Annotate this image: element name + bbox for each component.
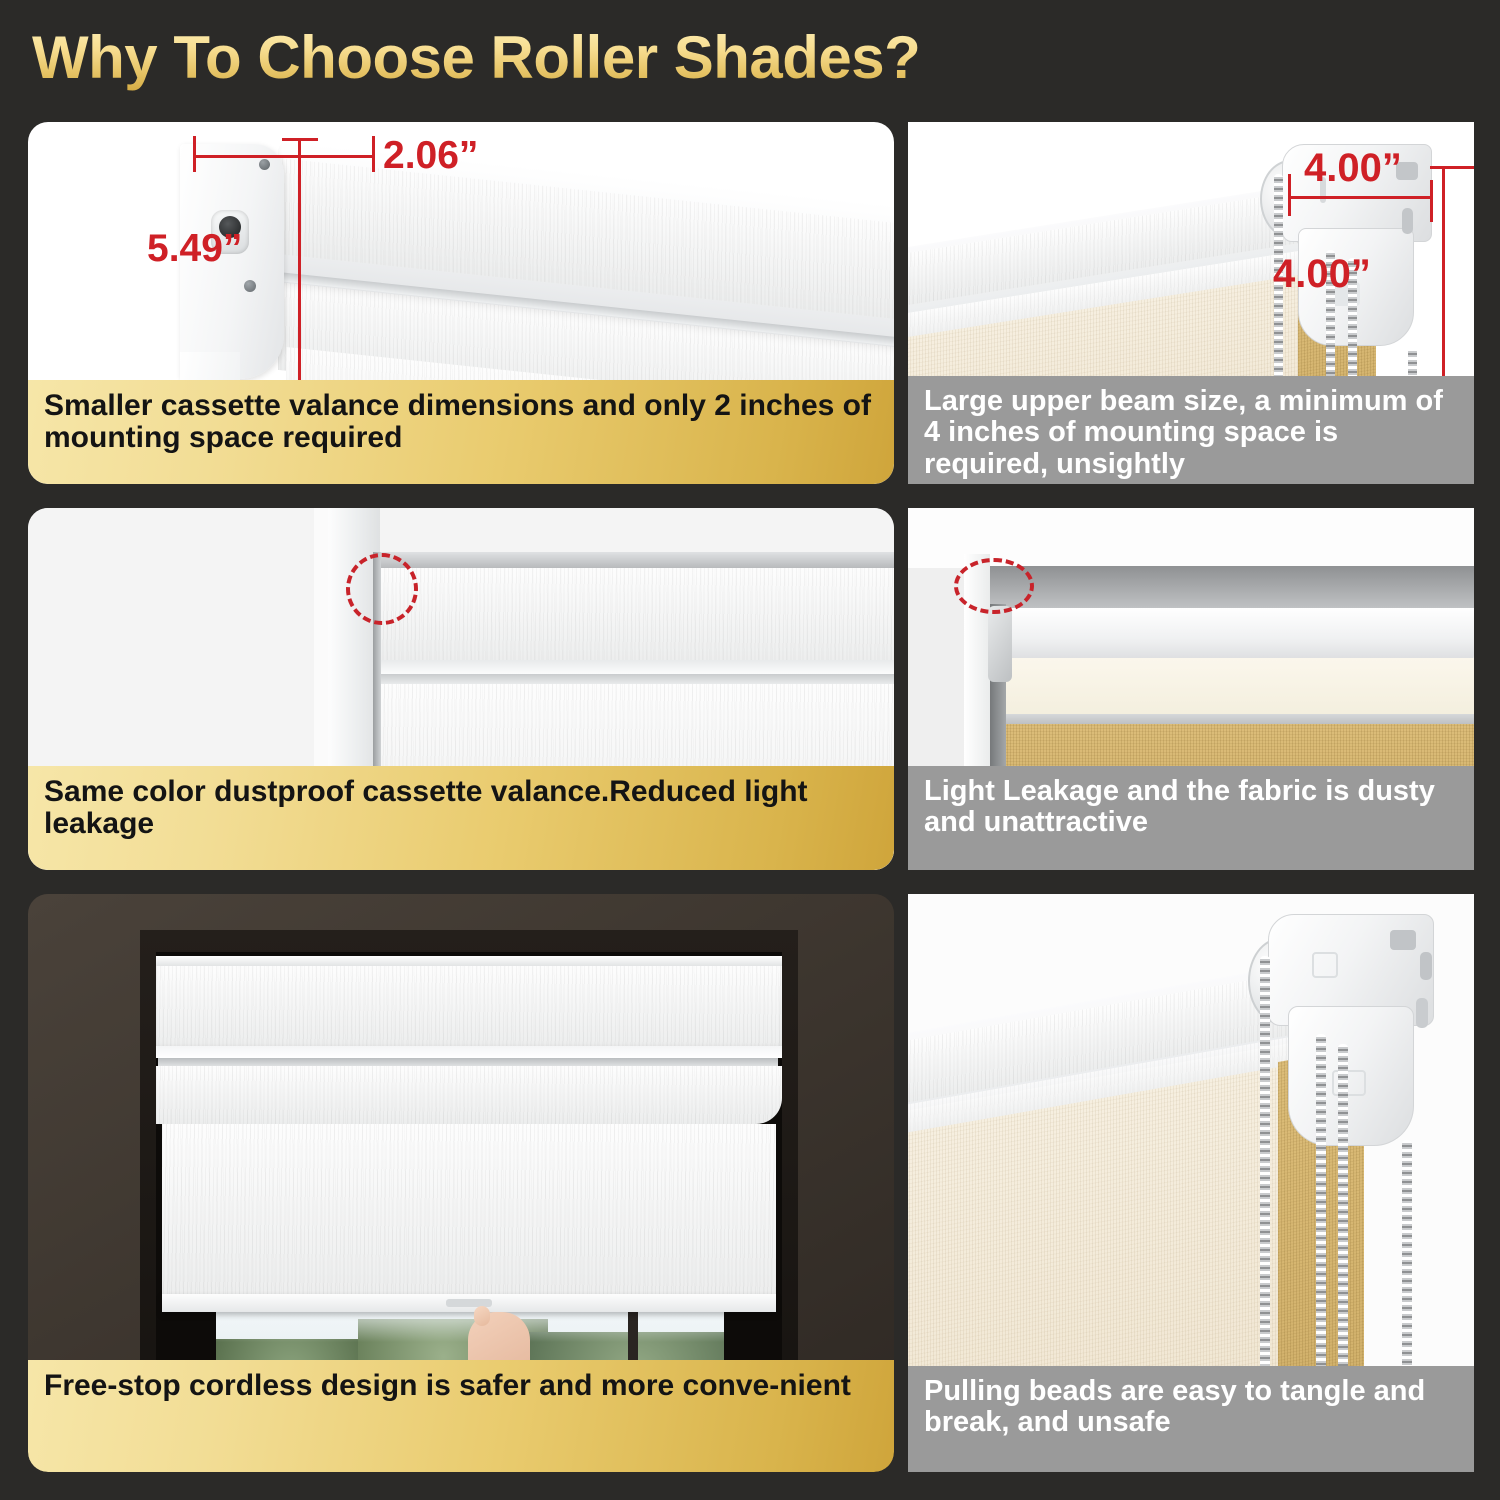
beam-height-tick-top bbox=[1430, 166, 1474, 169]
panel-caption-large-upper-beam: Large upper beam size, a minimum of 4 in… bbox=[908, 376, 1474, 484]
width-dimension-tick-left bbox=[193, 136, 196, 172]
gap-highlight-circle bbox=[954, 558, 1034, 614]
width-dimension-tick-right bbox=[372, 136, 375, 172]
panel-caption-same-color-dustproof-valance: Same color dustproof cassette valance.Re… bbox=[28, 766, 894, 870]
panel-smaller-cassette-valance: 2.06” 5.49” Smaller cassette valance dim… bbox=[28, 122, 894, 484]
panel-large-upper-beam: 4.00” 4.00” Large upper beam size, a min… bbox=[908, 122, 1474, 484]
beam-width-tick-left bbox=[1288, 174, 1291, 216]
width-dimension-label: 2.06” bbox=[383, 134, 478, 178]
panel-pulling-beads-tangle: Pulling beads are easy to tangle and bre… bbox=[908, 894, 1474, 1472]
panel-light-leakage-dusty-fabric: Large gap Light Leakage and the fabric i… bbox=[908, 508, 1474, 870]
page-title: Why To Choose Roller Shades? bbox=[32, 22, 1132, 94]
panel-caption-pulling-beads-tangle: Pulling beads are easy to tangle and bre… bbox=[908, 1366, 1474, 1472]
beam-width-tick-right bbox=[1430, 180, 1433, 222]
beam-height-dimension-label: 4.00” bbox=[1273, 252, 1371, 297]
panel-caption-light-leakage-dusty-fabric: Light Leakage and the fabric is dusty an… bbox=[908, 766, 1474, 870]
width-dimension-line bbox=[193, 155, 375, 158]
panel-same-color-dustproof-valance: smaller gap Same color dustproof cassett… bbox=[28, 508, 894, 870]
panel-caption-smaller-cassette-valance: Smaller cassette valance dimensions and … bbox=[28, 380, 894, 484]
height-dimension-tick-top bbox=[282, 138, 318, 141]
valance-face bbox=[156, 966, 782, 1050]
gap-highlight-circle bbox=[346, 553, 418, 625]
panel-free-stop-cordless-design: Free-stop cordless design is safer and m… bbox=[28, 894, 894, 1472]
height-dimension-label: 5.49” bbox=[147, 227, 242, 271]
beam-width-dimension-line bbox=[1288, 196, 1433, 199]
infographic-page: Why To Choose Roller Shades? bbox=[0, 0, 1500, 1500]
panel-caption-free-stop-cordless-design: Free-stop cordless design is safer and m… bbox=[28, 1360, 894, 1472]
beam-width-dimension-label: 4.00” bbox=[1304, 146, 1402, 191]
shade-fabric bbox=[162, 1124, 776, 1302]
beam-height-dimension-line bbox=[1442, 166, 1445, 390]
